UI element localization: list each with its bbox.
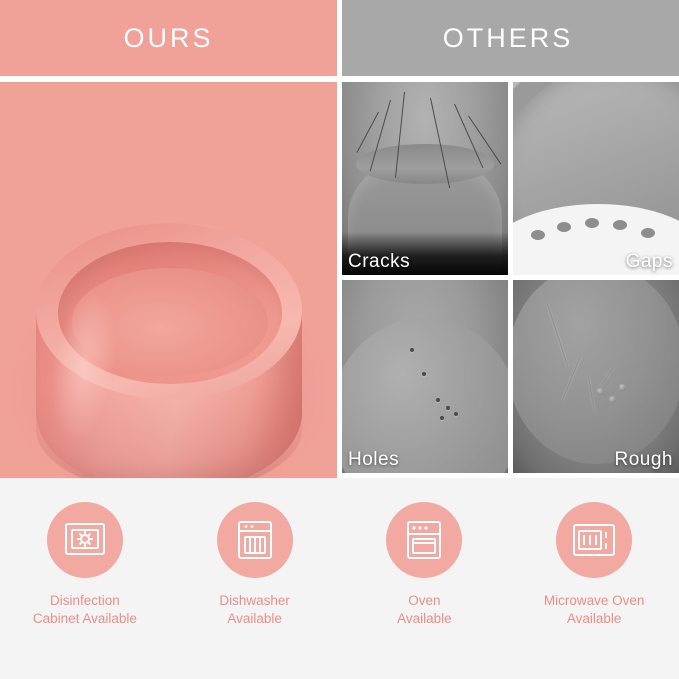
defect-label-cracks: Cracks — [348, 251, 410, 273]
pinhole — [454, 412, 458, 416]
feature-dishwasher: Dishwasher Available — [180, 502, 330, 628]
feature-label-line2: Available — [349, 610, 499, 628]
feature-label-line2: Available — [180, 610, 330, 628]
defect-cell-rough: Rough — [513, 280, 679, 473]
gap-notch — [641, 228, 655, 238]
oven-icon — [404, 519, 444, 561]
feature-icon-badge — [47, 502, 123, 578]
ours-header: OURS — [0, 0, 337, 76]
feature-disinfection-cabinet: Disinfection Cabinet Available — [10, 502, 160, 628]
surface-bump — [597, 388, 604, 395]
surface-bump — [609, 396, 616, 403]
gap-notch — [531, 230, 545, 240]
gap-notch — [585, 218, 599, 228]
rough-surface — [513, 280, 679, 464]
pinhole — [440, 416, 444, 420]
feature-label-line2: Cabinet Available — [10, 610, 160, 628]
pinhole — [410, 348, 414, 352]
defect-cell-gaps: Gaps — [513, 82, 679, 275]
defect-grid: Cracks Gaps Holes — [342, 82, 679, 478]
feature-label-line1: Microwave Oven — [519, 592, 669, 610]
header-divider-vertical — [337, 0, 342, 76]
feature-label: Oven Available — [349, 592, 499, 628]
pinhole — [422, 372, 426, 376]
feature-label-line1: Disinfection — [10, 592, 160, 610]
disinfection-cabinet-icon — [63, 520, 107, 560]
others-header: OTHERS — [337, 0, 679, 76]
feature-microwave-oven: Microwave Oven Available — [519, 502, 669, 628]
comparison-section: OURS OTHERS — [0, 0, 679, 478]
defect-label-gaps: Gaps — [626, 251, 673, 273]
defect-label-rough: Rough — [615, 449, 674, 471]
header-divider-right — [342, 76, 679, 82]
feature-icon-badge — [556, 502, 632, 578]
product-comparison-image: OURS OTHERS — [0, 0, 679, 679]
microwave-oven-icon — [571, 521, 617, 559]
feature-label: Microwave Oven Available — [519, 592, 669, 628]
pinhole — [446, 406, 450, 410]
gap-notch — [613, 220, 627, 230]
feature-label: Disinfection Cabinet Available — [10, 592, 160, 628]
feature-icon-badge — [386, 502, 462, 578]
feature-label-line2: Available — [519, 610, 669, 628]
feature-label-line1: Dishwasher — [180, 592, 330, 610]
feature-oven: Oven Available — [349, 502, 499, 628]
gap-notch — [557, 222, 571, 232]
header-divider-left — [0, 76, 337, 82]
defect-label-holes: Holes — [348, 449, 399, 471]
cracks-pot-rim — [356, 144, 494, 184]
feature-label-line1: Oven — [349, 592, 499, 610]
defect-cell-cracks: Cracks — [342, 82, 508, 275]
defect-cell-holes: Holes — [342, 280, 508, 473]
feature-label: Dishwasher Available — [180, 592, 330, 628]
ours-product-photo — [0, 82, 337, 478]
dishwasher-icon — [235, 519, 275, 561]
feature-icon-badge — [217, 502, 293, 578]
features-section: Disinfection Cabinet Available — [0, 478, 679, 679]
pinhole — [436, 398, 440, 402]
surface-bump — [619, 384, 626, 391]
